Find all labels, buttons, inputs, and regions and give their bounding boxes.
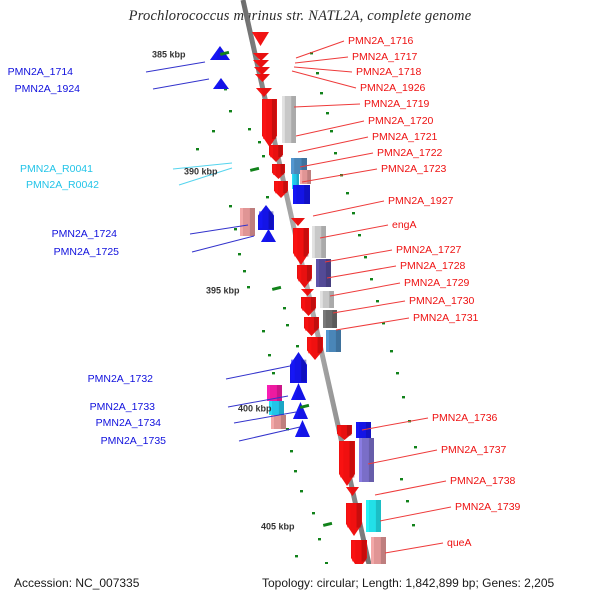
gene-highlight [338, 426, 341, 436]
gene-shadow [321, 226, 326, 258]
gene-highlight [271, 415, 274, 429]
gene-shadow [381, 537, 386, 567]
strand-tick [400, 478, 403, 480]
strand-tick [320, 92, 323, 94]
gene-highlight [293, 185, 296, 204]
label-leader-line [294, 104, 360, 107]
strand-tick [330, 130, 333, 132]
strand-tick [272, 372, 275, 374]
label-leader-line [298, 137, 368, 152]
strand-tick [229, 205, 232, 207]
gene-feature[interactable] [297, 265, 312, 288]
gene-shadow [301, 360, 306, 382]
strand-tick [414, 446, 417, 448]
gene-highlight [352, 541, 356, 561]
gene-label[interactable]: PMN2A_1734 [96, 417, 162, 429]
strand-tick [358, 234, 361, 236]
gene-highlight [305, 318, 308, 331]
gene-shadow [366, 422, 371, 438]
strand-tick [318, 538, 321, 540]
gene-label[interactable]: PMN2A_1725 [54, 246, 120, 258]
strand-tick [390, 350, 393, 352]
gene-feature[interactable] [213, 78, 229, 89]
strand-tick [352, 212, 355, 214]
label-leader-line [234, 412, 296, 423]
gene-label[interactable]: PMN2A_1739 [455, 501, 521, 513]
strand-tick [376, 300, 379, 302]
gene-highlight [267, 385, 270, 401]
strand-tick [248, 128, 251, 130]
gene-label[interactable]: queA [447, 537, 472, 549]
gene-label[interactable]: PMN2A_1727 [396, 244, 462, 256]
label-leader-line [153, 79, 209, 89]
strand-tick [258, 141, 261, 143]
gene-feature[interactable] [261, 229, 276, 242]
strand-tick [286, 324, 289, 326]
gene-highlight [356, 422, 359, 438]
gene-feature[interactable] [295, 420, 310, 437]
strand-tick [300, 490, 303, 492]
gene-label[interactable]: PMN2A_1735 [101, 435, 167, 447]
gene-highlight [326, 330, 329, 352]
label-leader-line [380, 507, 451, 521]
gene-label[interactable]: PMN2A_1718 [356, 66, 422, 78]
gene-highlight [298, 266, 301, 281]
gene-shadow [336, 330, 341, 352]
gene-shadow [272, 99, 277, 139]
gene-shadow [347, 425, 352, 436]
gene-label[interactable]: PMN2A_1737 [441, 444, 507, 456]
gene-highlight [263, 100, 266, 139]
gene-label[interactable]: PMN2A_1728 [400, 260, 466, 272]
ruler-label: 400 kbp [238, 403, 272, 413]
gene-highlight [259, 211, 263, 228]
label-leader-line [362, 418, 428, 430]
strand-tick [243, 270, 246, 272]
label-leader-line [375, 481, 446, 495]
gene-highlight [270, 146, 273, 157]
gene-feature[interactable] [290, 352, 307, 383]
strand-tick [312, 512, 315, 514]
gene-highlight [302, 298, 305, 311]
label-leader-line [295, 57, 348, 63]
gene-label[interactable]: PMN2A_R0041 [20, 163, 93, 175]
label-leader-line [320, 225, 388, 238]
topology-text: Topology: circular; Length: 1,842,899 bp… [262, 576, 554, 590]
gene-feature[interactable] [359, 438, 374, 482]
label-leader-line [239, 427, 300, 441]
label-leader-line [313, 201, 384, 216]
gene-feature[interactable] [293, 185, 310, 204]
strand-tick [412, 524, 415, 526]
gene-label[interactable]: PMN2A_1738 [450, 475, 516, 487]
gene-label[interactable]: PMN2A_1733 [90, 401, 156, 413]
gene-feature[interactable] [258, 205, 274, 230]
label-leader-line [327, 266, 396, 278]
gene-shadow [304, 185, 310, 204]
gene-shadow [314, 317, 319, 330]
gene-label[interactable]: PMN2A_1719 [364, 98, 430, 110]
gene-shadow [277, 385, 282, 401]
strand-tick [196, 148, 199, 150]
gene-feature[interactable] [316, 259, 331, 287]
gene-features[interactable] [210, 32, 386, 598]
strand-tick [266, 196, 269, 198]
strand-tick [296, 345, 299, 347]
gene-feature[interactable] [339, 441, 355, 486]
gene-feature[interactable] [320, 291, 334, 308]
gene-label[interactable]: PMN2A_1926 [360, 82, 426, 94]
gene-shadow [281, 415, 286, 429]
gene-shadow [278, 145, 282, 157]
gene-label[interactable]: PMN2A_1724 [52, 228, 118, 240]
gene-label[interactable]: PMN2A_1924 [15, 83, 81, 95]
label-leader-line [385, 543, 443, 553]
label-leader-line [296, 121, 364, 136]
gene-shadow [357, 503, 362, 528]
gene-label[interactable]: PMN2A_R0042 [26, 179, 99, 191]
gene-shadow [326, 259, 331, 287]
gene-feature[interactable] [346, 487, 359, 496]
strand-tick [238, 253, 241, 255]
strand-tick [402, 396, 405, 398]
gene-label[interactable]: PMN2A_1716 [348, 35, 414, 47]
gene-label[interactable]: PMN2A_1721 [372, 131, 438, 143]
strand-tick [234, 228, 237, 230]
gene-shadow [307, 265, 312, 281]
gene-feature[interactable] [240, 208, 255, 236]
genome-viewer[interactable]: Prochlorococcus marinus str. NATL2A, com… [0, 0, 600, 600]
gene-shadow [307, 170, 311, 184]
strand-tick [262, 330, 265, 332]
label-leader-line [330, 283, 400, 296]
gene-label[interactable]: PMN2A_1927 [388, 195, 454, 207]
label-leader-line [300, 153, 373, 167]
strand-tick [295, 555, 298, 557]
gene-label[interactable]: PMN2A_1729 [404, 277, 470, 289]
gene-feature[interactable] [371, 537, 386, 567]
gene-highlight [275, 182, 278, 193]
status-bar: Accession: NC_007335 Topology: circular;… [0, 564, 600, 600]
gene-shadow [283, 181, 287, 193]
gene-shadow [250, 208, 255, 236]
strand-tick [247, 286, 250, 288]
gene-highlight [312, 226, 315, 258]
gene-highlight [273, 165, 276, 175]
strand-tick [396, 372, 399, 374]
gene-shadow [350, 441, 355, 478]
gene-label[interactable]: PMN2A_1732 [88, 373, 154, 385]
gene-label[interactable]: PMN2A_1723 [381, 163, 447, 175]
ruler-label: 385 kbp [152, 49, 186, 59]
gene-highlight [371, 537, 374, 567]
gene-highlight [359, 438, 362, 482]
gene-label[interactable]: engA [392, 219, 417, 231]
label-leader-line [368, 450, 437, 464]
strand-tick [268, 354, 271, 356]
gene-highlight [282, 96, 285, 143]
label-leader-line [336, 318, 409, 330]
gene-shadow [362, 540, 367, 562]
gene-highlight [320, 291, 323, 308]
strand-tick [262, 155, 265, 157]
gene-shadow [304, 228, 309, 257]
label-leader-line [192, 236, 254, 252]
strand-tick [370, 278, 373, 280]
strand-tick [229, 110, 232, 112]
label-leader-line [294, 67, 352, 72]
label-leader-line [292, 71, 356, 88]
label-leader-line [226, 366, 290, 379]
gene-feature[interactable] [312, 226, 326, 258]
strand-tick [283, 307, 286, 309]
ruler-label: 390 kbp [184, 166, 218, 176]
gene-label[interactable]: PMN2A_1717 [352, 51, 418, 63]
gene-highlight [347, 504, 351, 527]
gene-highlight [366, 500, 369, 532]
strand-tick [212, 130, 215, 132]
label-leader-line [146, 62, 205, 72]
label-leader-line [190, 225, 248, 234]
gene-label[interactable]: PMN2A_1720 [368, 115, 434, 127]
gene-feature[interactable] [293, 228, 309, 265]
strand-tick [326, 112, 329, 114]
gene-highlight [291, 158, 294, 174]
strand-tick [346, 192, 349, 194]
ruler-tick-dash [272, 286, 281, 291]
gene-shadow [281, 164, 285, 175]
gene-highlight [340, 442, 344, 477]
gene-label[interactable]: PMN2A_1714 [8, 66, 74, 78]
gene-highlight [294, 229, 298, 256]
strand-tick [364, 256, 367, 258]
label-leader-line [296, 41, 344, 58]
ruler-label: 395 kbp [206, 285, 240, 295]
gene-feature[interactable] [326, 330, 341, 352]
accession-text: Accession: NC_007335 [14, 576, 139, 590]
gene-feature[interactable] [301, 289, 314, 296]
gene-shadow [291, 96, 296, 143]
gene-shadow [369, 438, 374, 482]
label-leader-line [325, 250, 392, 262]
ruler-label: 405 kbp [261, 521, 295, 531]
gene-label[interactable]: PMN2A_1722 [377, 147, 443, 159]
gene-highlight [316, 259, 319, 287]
gene-shadow [329, 291, 334, 308]
gene-feature[interactable] [255, 74, 270, 82]
gene-shadow [311, 297, 316, 310]
gene-feature[interactable] [282, 96, 296, 143]
genome-graphics-layer[interactable]: PMN2A_1714PMN2A_1924PMN2A_R0041PMN2A_R00… [0, 0, 600, 600]
label-leader-line [302, 169, 377, 182]
gene-shadow [376, 500, 381, 532]
ruler-tick-dash [323, 522, 332, 527]
strand-tick [316, 72, 319, 74]
gene-shadow [318, 337, 323, 353]
gene-label[interactable]: PMN2A_1731 [413, 312, 479, 324]
ruler-tick-dash [250, 167, 259, 172]
gene-label[interactable]: PMN2A_1736 [432, 412, 498, 424]
strand-tick [290, 450, 293, 452]
gene-highlight [291, 360, 295, 381]
gene-highlight [323, 310, 326, 328]
gene-feature[interactable] [366, 500, 381, 532]
gene-highlight [300, 170, 302, 184]
gene-feature[interactable] [291, 383, 306, 400]
strand-tick [334, 152, 337, 154]
gene-highlight [240, 208, 243, 236]
gene-shadow [269, 211, 274, 229]
gene-shadow [279, 401, 284, 415]
strand-tick [294, 470, 297, 472]
gene-highlight [308, 338, 312, 353]
gene-label[interactable]: PMN2A_1730 [409, 295, 475, 307]
label-leader-line [333, 301, 405, 313]
gene-feature[interactable] [271, 415, 286, 429]
gene-feature[interactable] [256, 88, 272, 97]
strand-tick [406, 500, 409, 502]
